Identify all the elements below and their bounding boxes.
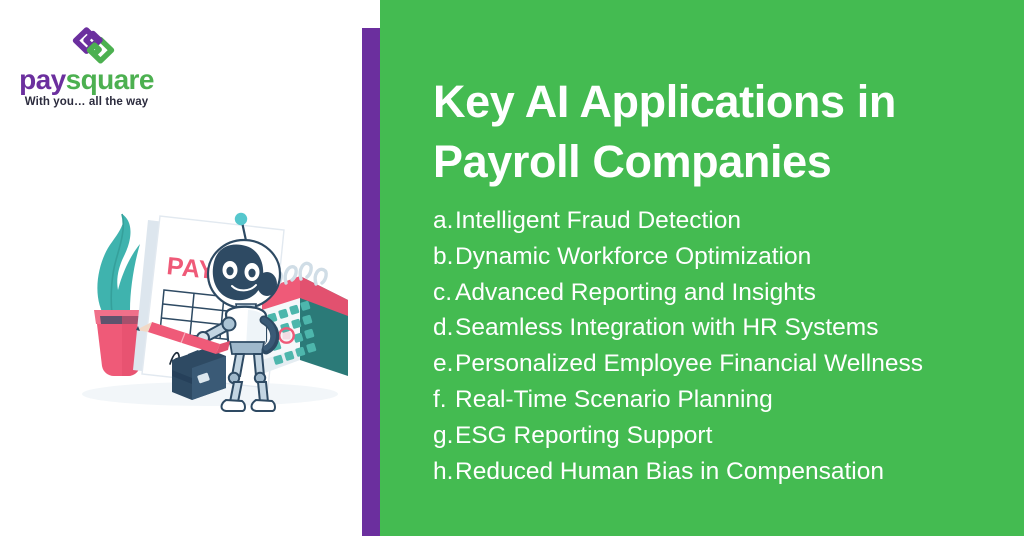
logo-word-square: square (66, 64, 154, 95)
list-item: f.Real-Time Scenario Planning (433, 382, 1003, 418)
list-item: h.Reduced Human Bias in Compensation (433, 454, 1003, 490)
list-item-marker: g. (433, 418, 455, 454)
list-item: e.Personalized Employee Financial Wellne… (433, 346, 1003, 382)
list-item: a.Intelligent Fraud Detection (433, 203, 1003, 239)
list-item-marker: c. (433, 275, 455, 311)
paysquare-logo-wordmark: paysquare (14, 66, 159, 94)
paysquare-logo: paysquare With you… all the way (14, 26, 159, 104)
list-item-marker: d. (433, 310, 455, 346)
page-title-line-2: Payroll Companies (433, 132, 993, 192)
list-item-label: Seamless Integration with HR Systems (455, 314, 878, 341)
list-item-label: Personalized Employee Financial Wellness (455, 350, 923, 377)
list-item-label: Dynamic Workforce Optimization (455, 243, 811, 270)
list-item-marker: b. (433, 239, 455, 275)
ai-applications-list: a.Intelligent Fraud Detection b.Dynamic … (433, 203, 1003, 489)
list-item-marker: a. (433, 203, 455, 239)
list-item-label: Real-Time Scenario Planning (455, 386, 773, 413)
list-item-marker: f. (433, 382, 455, 418)
list-item-marker: e. (433, 346, 455, 382)
logo-word-pay: pay (19, 64, 65, 95)
logo-tagline: With you… all the way (14, 96, 159, 108)
list-item-label: Reduced Human Bias in Compensation (455, 458, 884, 485)
list-item-label: ESG Reporting Support (455, 422, 712, 449)
list-item-label: Advanced Reporting and Insights (455, 279, 816, 306)
page-title: Key AI Applications in Payroll Companies (433, 72, 993, 192)
infographic-canvas: paysquare With you… all the way (0, 0, 1024, 536)
page-title-line-1: Key AI Applications in (433, 72, 993, 132)
purple-accent-bar (362, 28, 381, 536)
robot-payroll-illustration: PAYROLL (60, 198, 365, 420)
list-item: c.Advanced Reporting and Insights (433, 275, 1003, 311)
list-item: b.Dynamic Workforce Optimization (433, 239, 1003, 275)
list-item-label: Intelligent Fraud Detection (455, 207, 741, 234)
paysquare-logo-mark-icon (66, 26, 122, 66)
list-item: d.Seamless Integration with HR Systems (433, 310, 1003, 346)
list-item-marker: h. (433, 454, 455, 490)
list-item: g.ESG Reporting Support (433, 418, 1003, 454)
